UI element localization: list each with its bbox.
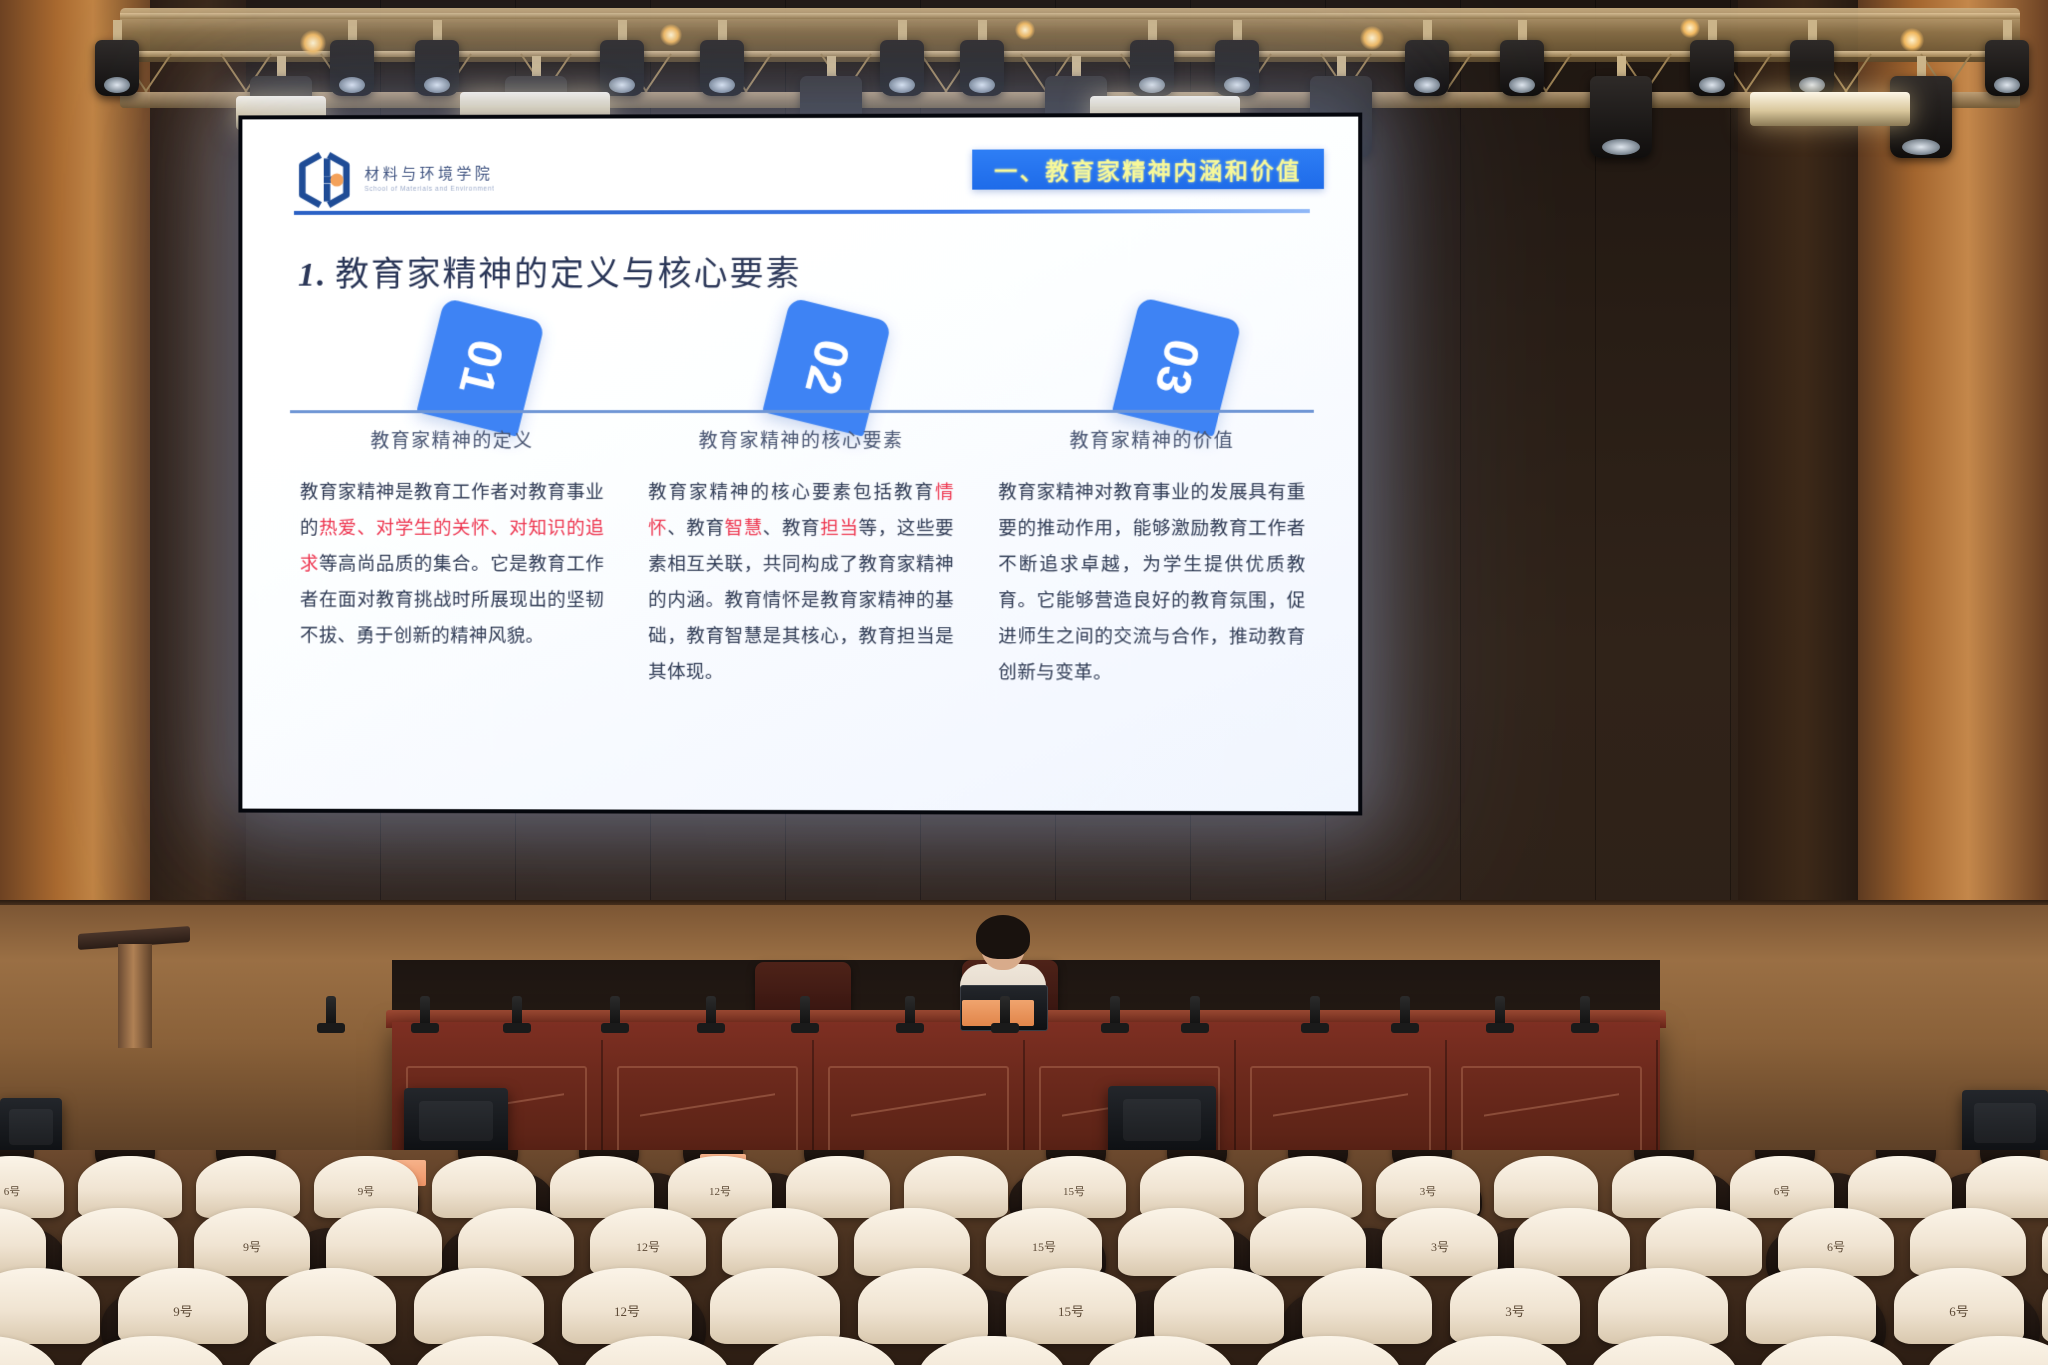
number-card-03: 03 [1112,297,1242,437]
number-card-label: 02 [794,333,861,400]
desk-microphone [1000,996,1010,1026]
presentation-slide: 材料与环境学院 School of Materials and Environm… [242,117,1358,812]
audience-seat [414,1268,544,1344]
highlighted-phrase: 智慧 [725,519,763,539]
body-text: 等高尚品质的集合。它是教育工作者在面对教育挑战时所展现出的坚韧不拔、勇于创新的精… [300,555,604,647]
light-lens [1799,77,1825,93]
wall-column-left-dark [150,0,246,905]
column-body: 教育家精神的核心要素包括教育情怀、教育智慧、教育担当等，这些要素相互关联，共同构… [648,475,954,692]
audience-seat [1848,1156,1952,1218]
light-lens [709,77,735,93]
auditorium-venue: 材料与环境学院 School of Materials and Environm… [0,0,2048,1365]
light-yoke [1423,20,1432,42]
light-lens [1224,77,1250,93]
light-lens [1699,77,1725,93]
light-body [1215,40,1259,96]
column-1: 教育家精神的定义教育家精神是教育工作者对教育事业的热爱、对学生的关怀、对知识的追… [278,426,626,786]
ceiling-glow [1360,26,1384,50]
desk-microphone [1110,996,1120,1026]
audience-seat [858,1268,988,1344]
content-columns: 教育家精神的定义教育家精神是教育工作者对教育事业的热爱、对学生的关怀、对知识的追… [278,426,1328,787]
column-heading: 教育家精神的核心要素 [648,426,954,453]
light-body [1130,40,1174,96]
audience-seat [62,1208,178,1276]
light-yoke [1708,20,1717,42]
light-body [880,40,924,96]
light-body [700,40,744,96]
audience-seat: 12号 [590,1208,706,1276]
desk-microphone [420,996,430,1026]
audience-seat: 9号 [194,1208,310,1276]
light-yoke [277,56,286,78]
audience-seat: 6号 [1778,1208,1894,1276]
light-yoke [348,20,357,42]
audience-seat [1302,1268,1432,1344]
seat-number-label: 15号 [1032,1238,1056,1255]
light-yoke [1617,56,1626,78]
light-yoke [433,20,442,42]
light-lens [609,77,635,93]
column-body: 教育家精神是教育工作者对教育事业的热爱、对学生的关怀、对知识的追求等高尚品质的集… [300,475,604,655]
column-heading: 教育家精神的价值 [998,426,1306,453]
table-chevron [640,1093,775,1148]
desk-microphone [706,996,716,1026]
light-yoke [1518,20,1527,42]
desk-microphone [1400,996,1410,1026]
number-card-01: 01 [416,298,545,437]
body-text: 、教育 [667,519,724,539]
number-cards-group: 010203 [242,313,1358,416]
school-logo: 材料与环境学院 School of Materials and Environm… [294,151,494,209]
light-body [95,40,139,96]
audience-seat [1118,1208,1234,1276]
number-card-label: 01 [448,334,514,401]
audience-seat [0,1208,46,1276]
light-lens [104,77,130,93]
seat-number-label: 12号 [709,1183,731,1199]
light-lens [339,77,365,93]
column-3: 教育家精神的价值教育家精神对教育事业的发展具有重要的推动作用，能够激励教育工作者… [976,426,1328,787]
ceiling-glow [1015,20,1035,40]
ceiling-glow [660,24,682,46]
audience-seat [2042,1268,2048,1344]
light-lens [889,77,915,93]
audience-seat [0,1268,100,1344]
column-body: 教育家精神对教育事业的发展具有重要的推动作用，能够激励教育工作者不断追求卓越，为… [998,475,1306,692]
stage-monitor-left [404,1088,508,1158]
desk-microphone [800,996,810,1026]
light-body [415,40,459,96]
seat-number-label: 9号 [243,1238,261,1255]
seat-number-label: 6号 [1827,1238,1845,1255]
ce-hexagon-icon [294,151,354,209]
light-body [600,40,644,96]
title-text: 教育家精神的定义与核心要素 [335,256,801,294]
audience-seat: 3号 [1450,1268,1580,1344]
light-body [330,40,374,96]
podium [96,930,172,1048]
light-yoke [1072,56,1081,78]
audience-seat: 6号 [0,1156,64,1218]
wood-column-left [0,0,150,905]
podium-column [118,944,152,1048]
audience-seat: 6号 [1894,1268,2024,1344]
light-lens [1602,139,1639,155]
seat-number-label: 12号 [614,1301,640,1320]
light-body [1405,40,1449,96]
light-yoke [978,20,987,42]
light-body [1790,40,1834,96]
school-name-cn: 材料与环境学院 [364,166,494,183]
ceiling-glow [1680,18,1700,38]
desk-microphone [905,996,915,1026]
audience-seat [1514,1208,1630,1276]
audience-seat [1910,1208,2026,1276]
light-body [1985,40,2029,96]
seat-number-label: 3号 [1505,1301,1525,1320]
section-divider [290,410,1314,413]
light-body [1690,40,1734,96]
light-lens [1902,139,1939,155]
number-card-label: 03 [1143,333,1210,400]
seat-number-label: 9号 [173,1301,193,1320]
wall-panel [1461,0,1596,905]
audience-seat [2042,1208,2048,1276]
light-lens [1509,77,1535,93]
light-yoke [1808,20,1817,42]
desk-microphone [1190,996,1200,1026]
audience-seat [1598,1268,1728,1344]
page-title: 1.教育家精神的定义与核心要素 [298,246,802,296]
desk-microphone [1495,996,1505,1026]
audience-seat [710,1268,840,1344]
audience-seat: 12号 [668,1156,772,1218]
seat-number-label: 15号 [1063,1183,1085,1199]
audience-seat: 12号 [562,1268,692,1344]
light-lens [1139,77,1165,93]
light-yoke [1148,20,1157,42]
audience-seat: 9号 [118,1268,248,1344]
ceiling-glow [300,30,326,56]
light-body [960,40,1004,96]
body-text: 、教育 [763,519,820,539]
audience-seat: 15号 [986,1208,1102,1276]
ceiling-glow [1900,28,1924,52]
light-yoke [2003,20,2012,42]
body-text: 教育家精神对教育事业的发展具有重要的推动作用，能够激励教育工作者不断追求卓越，为… [998,483,1306,684]
desk-microphone [326,996,336,1026]
seat-number-label: 12号 [636,1238,660,1255]
section-banner-text: 一、教育家精神内涵和价值 [994,152,1302,187]
light-yoke [1917,56,1926,78]
light-yoke [1233,20,1242,42]
school-name-en: School of Materials and Environment [364,186,494,193]
light-yoke [827,56,836,78]
column-heading: 教育家精神的定义 [300,426,604,453]
body-text: 等，这些要素相互关联，共同构成了教育家精神的内涵。教育情怀是教育家精神的基础，教… [648,519,954,683]
desk-microphone [1580,996,1590,1026]
audience-seat [722,1208,838,1276]
light-yoke [618,20,627,42]
audience-seat [1250,1208,1366,1276]
light-body [1500,40,1544,96]
light-yoke [532,56,541,78]
section-banner: 一、教育家精神内涵和价值 [972,149,1324,190]
light-yoke [113,20,122,42]
audience-seat [326,1208,442,1276]
seat-number-label: 3号 [1420,1183,1437,1199]
audience-area: 6号9号12号15号3号6号9号12号15号3号6号9号12号15号3号6号9号… [0,1150,2048,1365]
audience-seat: 15号 [1006,1268,1136,1344]
audience-seat [1746,1268,1876,1344]
presenter-hair [976,915,1030,959]
light-yoke [718,20,727,42]
audience-seat [854,1208,970,1276]
body-text: 教育家精神的核心要素包括教育 [648,483,935,503]
desk-microphone [1310,996,1320,1026]
wall-column-right-dark [1738,0,1858,905]
seat-number-label: 3号 [1431,1238,1449,1255]
audience-seat [458,1208,574,1276]
table-chevron [851,1093,986,1148]
seat-number-label: 6号 [1949,1301,1969,1320]
number-card-02: 02 [762,297,891,437]
seat-number-label: 9号 [358,1183,375,1199]
wood-column-right [1858,0,2048,905]
audience-seat [786,1156,890,1218]
audience-seat [1154,1268,1284,1344]
stage-monitor-right [1108,1086,1216,1158]
light-body [1590,76,1652,158]
highlighted-phrase: 担当 [820,519,858,539]
light-lens [1994,77,2020,93]
seat-number-label: 6号 [4,1183,21,1199]
audience-seat [1646,1208,1762,1276]
light-lens [1414,77,1440,93]
light-yoke [1337,56,1346,78]
desk-microphone [610,996,620,1026]
light-yoke [898,20,907,42]
desk-microphone [512,996,522,1026]
projection-screen: 材料与环境学院 School of Materials and Environm… [238,113,1362,816]
light-lens [424,77,450,93]
bar-light [1750,92,1910,126]
audience-seat [266,1268,396,1344]
title-number: 1. [298,257,327,294]
light-lens [969,77,995,93]
seat-number-label: 6号 [1774,1183,1791,1199]
table-chevron [1484,1093,1619,1148]
seat-number-label: 15号 [1058,1301,1084,1320]
column-2: 教育家精神的核心要素教育家精神的核心要素包括教育情怀、教育智慧、教育担当等，这些… [626,426,976,786]
table-chevron [1273,1093,1408,1148]
audience-seat: 3号 [1382,1208,1498,1276]
